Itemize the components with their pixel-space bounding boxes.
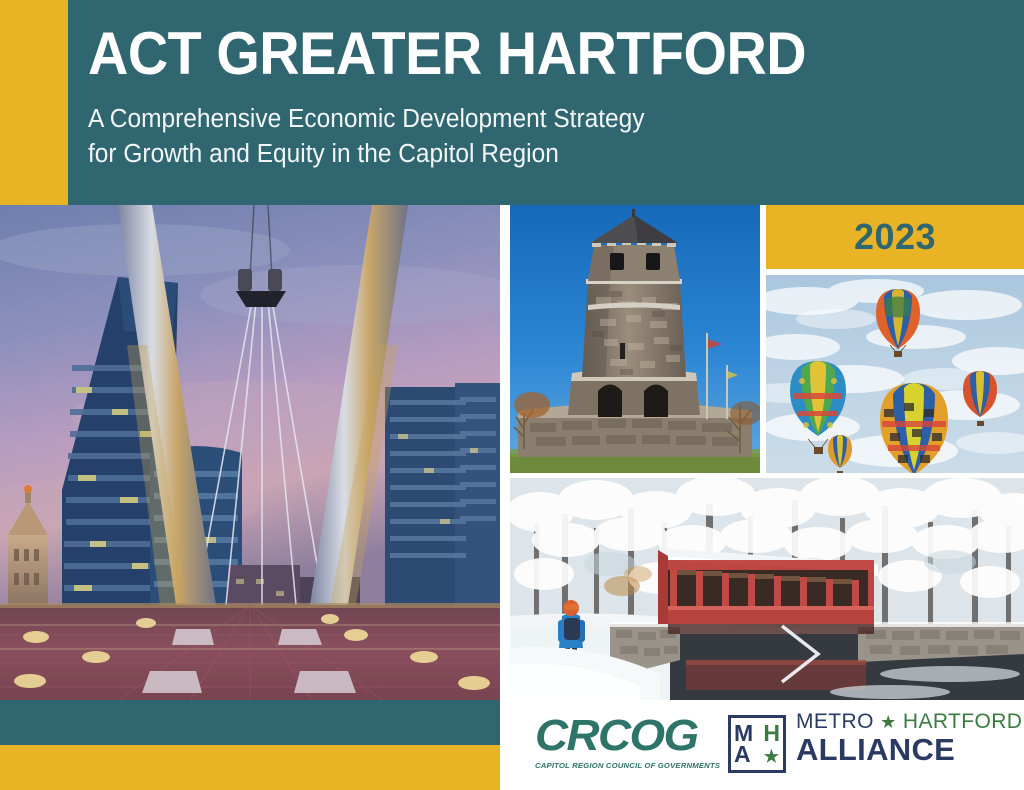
mha-wordmark: METRO ★ HARTFORD ALLIANCE	[796, 710, 1016, 766]
metro-hartford-alliance-logo: M H A ★ METRO ★ HARTFORD ALLIANCE	[728, 710, 1013, 780]
header-text-block: ACT GREATER HARTFORD A Comprehensive Eco…	[88, 0, 988, 205]
photo-hot-air-balloons	[766, 275, 1024, 473]
document-cover: ACT GREATER HARTFORD A Comprehensive Eco…	[0, 0, 1024, 790]
crcog-logo: CRCOG CAPITOL REGION COUNCIL OF GOVERNME…	[535, 714, 725, 776]
page-subtitle: A Comprehensive Economic Development Str…	[88, 84, 952, 172]
mha-monogram-box: M H A ★	[728, 715, 786, 773]
photo-red-covered-bridge-winter	[510, 478, 1024, 700]
mha-monogram-grid: M H A ★	[734, 721, 780, 767]
subtitle-line-1: A Comprehensive Economic Development Str…	[88, 102, 952, 137]
mha-alliance-text: ALLIANCE	[796, 734, 1016, 767]
year-label: 2023	[854, 216, 936, 258]
cover-header: ACT GREATER HARTFORD A Comprehensive Eco…	[0, 0, 1024, 205]
footer-yellow-bar	[0, 745, 500, 790]
year-badge: 2023	[766, 205, 1024, 269]
cover-footer: CRCOG CAPITOL REGION COUNCIL OF GOVERNME…	[0, 700, 1024, 790]
mha-wordmark-line-1: METRO ★ HARTFORD	[796, 710, 1016, 734]
photo-hartford-skyline-bridge	[0, 205, 500, 700]
mha-star-icon: ★	[764, 748, 779, 765]
crcog-tagline: CAPITOL REGION COUNCIL OF GOVERNMENTS	[535, 761, 729, 770]
crcog-wordmark: CRCOG	[535, 714, 733, 758]
photo-grid: 2023	[0, 205, 1024, 700]
mha-letter-a: A	[734, 743, 751, 766]
subtitle-line-2: for Growth and Equity in the Capitol Reg…	[88, 137, 952, 172]
mha-divider-star-icon: ★	[880, 712, 897, 732]
header-accent-bar	[0, 0, 68, 205]
footer-logo-area: CRCOG CAPITOL REGION COUNCIL OF GOVERNME…	[500, 700, 1024, 790]
page-title: ACT GREATER HARTFORD	[88, 0, 925, 84]
footer-teal-bar	[0, 700, 500, 745]
mha-metro-text: METRO	[796, 710, 874, 733]
mha-letter-h: H	[763, 722, 780, 745]
photo-stone-observation-tower	[510, 205, 760, 473]
mha-hartford-text: HARTFORD	[903, 710, 1022, 733]
